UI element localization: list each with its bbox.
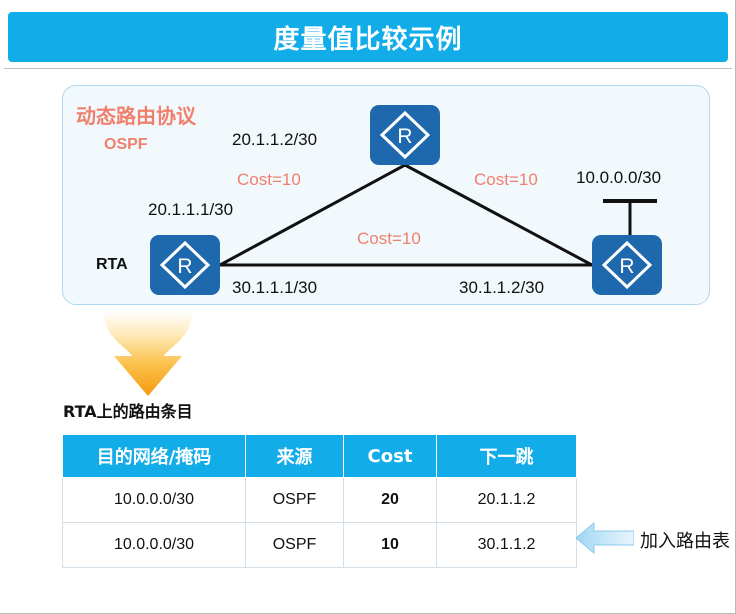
down-arrow-icon — [100, 312, 196, 398]
cell-nexthop: 30.1.1.2 — [437, 523, 577, 568]
slide-title-bar: 度量值比较示例 — [8, 12, 728, 62]
ip-label-30-1-1-1: 30.1.1.1/30 — [232, 278, 317, 298]
cell-source: OSPF — [246, 523, 344, 568]
cell-dest: 10.0.0.0/30 — [63, 523, 246, 568]
cell-source: OSPF — [246, 478, 344, 523]
left-arrow-icon — [576, 521, 634, 555]
ip-label-20-1-1-1: 20.1.1.1/30 — [148, 200, 233, 220]
table-header-row: 目的网络/掩码 来源 Cost 下一跳 — [63, 435, 577, 478]
title-divider — [4, 68, 732, 69]
annotation-note: 加入路由表 — [640, 527, 730, 553]
page-title: 度量值比较示例 — [273, 19, 462, 56]
cell-nexthop: 20.1.1.2 — [437, 478, 577, 523]
table-header-nexthop: 下一跳 — [437, 435, 577, 478]
route-table: 目的网络/掩码 来源 Cost 下一跳 10.0.0.0/30 OSPF 20 … — [62, 434, 577, 568]
table-row: 10.0.0.0/30 OSPF 20 20.1.1.2 — [63, 478, 577, 523]
route-table-heading: RTA上的路由条目 — [63, 398, 193, 422]
slide-page: 度量值比较示例 R R R 动态路由协议 OSP — [0, 0, 736, 614]
table-header-source: 来源 — [246, 435, 344, 478]
router-right[interactable]: R — [592, 235, 662, 295]
svg-text:R: R — [177, 255, 192, 278]
cell-dest: 10.0.0.0/30 — [63, 478, 246, 523]
protocol-title: 动态路由协议 — [76, 100, 196, 129]
svg-text:R: R — [397, 125, 412, 148]
table-header-dest: 目的网络/掩码 — [63, 435, 246, 478]
cell-cost: 10 — [344, 523, 437, 568]
svg-text:R: R — [619, 255, 634, 278]
router-rta[interactable]: R — [150, 235, 220, 295]
table-header-cost: Cost — [344, 435, 437, 478]
cost-label-upper-left: Cost=10 — [237, 170, 301, 190]
cost-label-bottom: Cost=10 — [357, 229, 421, 249]
rta-device-label: RTA — [96, 256, 128, 274]
ip-label-10-0-0-0: 10.0.0.0/30 — [576, 168, 661, 188]
cell-cost: 20 — [344, 478, 437, 523]
ip-label-30-1-1-2: 30.1.1.2/30 — [459, 278, 544, 298]
cost-label-upper-right: Cost=10 — [474, 170, 538, 190]
ip-label-20-1-1-2: 20.1.1.2/30 — [232, 130, 317, 150]
router-center[interactable]: R — [370, 105, 440, 165]
protocol-name: OSPF — [104, 136, 148, 154]
table-row: 10.0.0.0/30 OSPF 10 30.1.1.2 — [63, 523, 577, 568]
